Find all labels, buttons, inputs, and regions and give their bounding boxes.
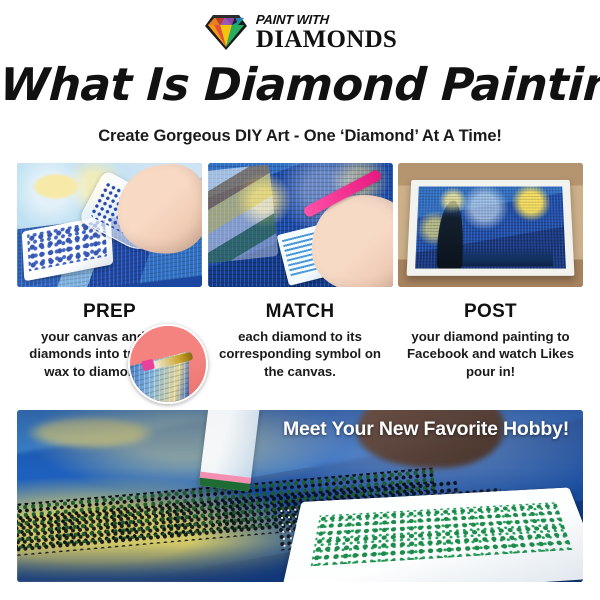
post-photo-starry-night-art xyxy=(415,186,565,268)
post-photo-canvas-board xyxy=(407,180,575,276)
step-match-photo xyxy=(208,163,393,287)
match-photo-diamond-bags xyxy=(208,164,279,263)
step-prep-photo xyxy=(17,163,202,287)
steps-row: PREP your canvas and pour diamonds into … xyxy=(0,163,600,380)
brand-name-line2: DIAMONDS xyxy=(256,27,397,52)
brand-logo-bar: PAINT WITH DIAMONDS xyxy=(0,0,600,56)
brand-logo[interactable]: PAINT WITH DIAMONDS xyxy=(203,12,397,52)
prep-photo-highlight xyxy=(32,173,80,200)
brand-wordmark: PAINT WITH DIAMONDS xyxy=(256,13,397,52)
diamond-gem-icon xyxy=(203,12,249,52)
step-prep: PREP your canvas and pour diamonds into … xyxy=(17,163,202,380)
page-title: What Is Diamond Painting? xyxy=(0,58,600,111)
banner-diamond-pen xyxy=(199,410,260,492)
step-post-photo xyxy=(398,163,583,287)
step-match-body: each diamond to its corresponding symbol… xyxy=(208,328,393,380)
post-photo-village xyxy=(460,248,553,267)
step-post: POST your diamond painting to Facebook a… xyxy=(398,163,583,380)
brand-name-line1: PAINT WITH xyxy=(255,13,397,26)
step-match: MATCH each diamond to its corresponding … xyxy=(208,163,393,380)
step-post-title: POST xyxy=(398,301,583,323)
hobby-banner[interactable]: Meet Your New Favorite Hobby! xyxy=(17,410,583,582)
page-subtitle: Create Gorgeous DIY Art - One ‘Diamond’ … xyxy=(0,127,600,146)
banner-headline: Meet Your New Favorite Hobby! xyxy=(283,418,569,441)
step-post-body: your diamond painting to Facebook and wa… xyxy=(398,328,583,380)
step-prep-title: PREP xyxy=(17,301,202,323)
step-match-title: MATCH xyxy=(208,301,393,323)
prep-photo-inset-circle xyxy=(128,324,208,404)
